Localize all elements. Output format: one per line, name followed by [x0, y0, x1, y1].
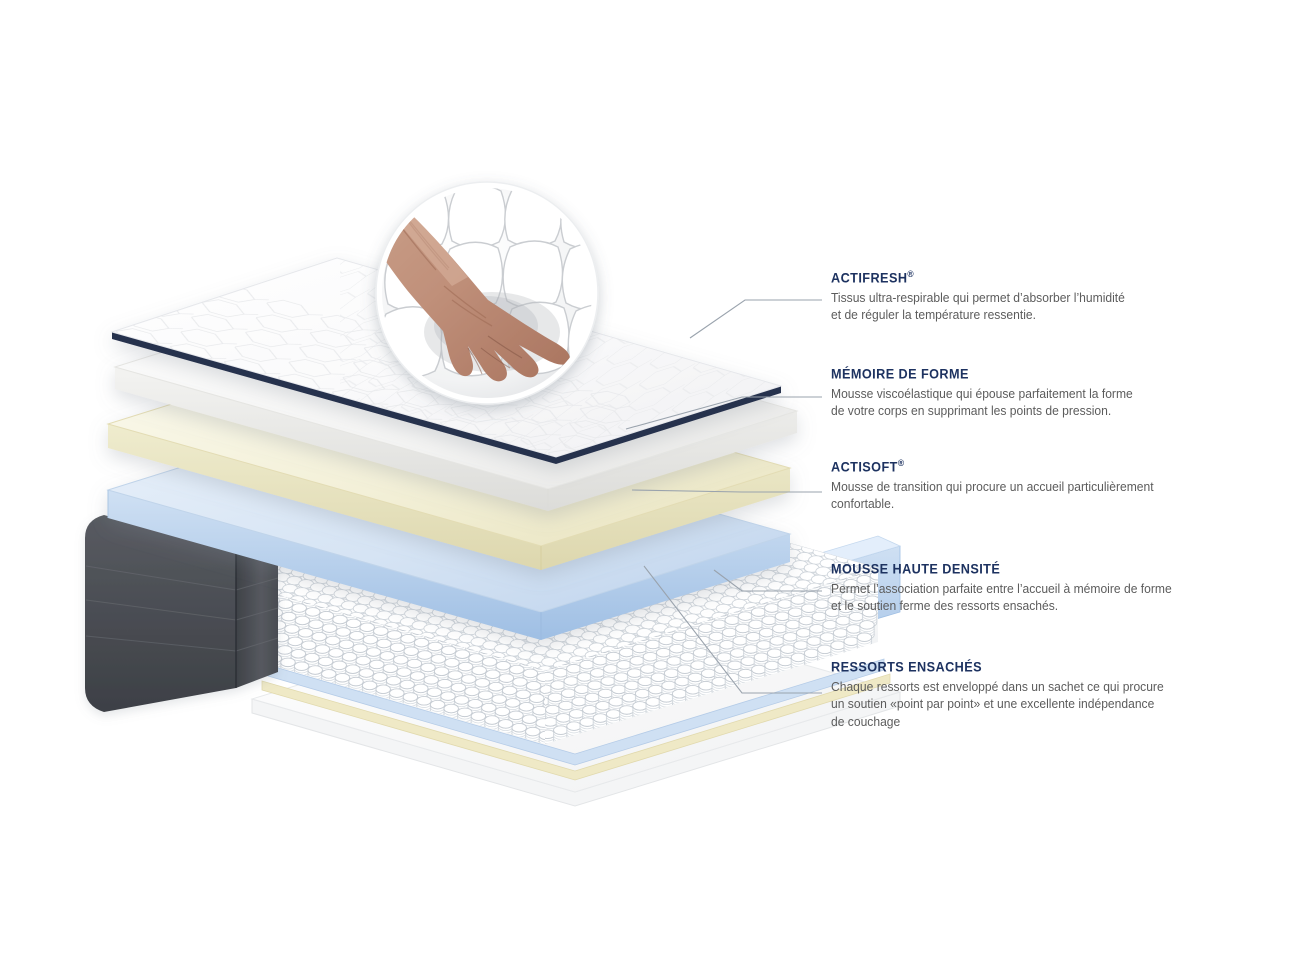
callout-title: ACTISOFT®	[831, 459, 1147, 475]
callout-title: MOUSSE HAUTE DENSITÉ	[831, 561, 1165, 577]
callout-memoire-de-forme: MÉMOIRE DE FORME Mousse viscoélastique q…	[831, 366, 1145, 421]
callout-title: MÉMOIRE DE FORME	[831, 366, 1126, 382]
registered-trademark-icon: ®	[898, 458, 904, 468]
callout-body: Mousse de transition qui procure un accu…	[831, 479, 1154, 513]
callout-actifresh: ACTIFRESH® Tissus ultra-respirable qui p…	[831, 270, 1137, 325]
registered-trademark-icon: ®	[907, 269, 913, 279]
callout-title: RESSORTS ENSACHÉS	[831, 659, 1157, 675]
diagram-canvas: ACTIFRESH® Tissus ultra-respirable qui p…	[0, 0, 1291, 968]
leader-line-actifresh	[690, 300, 822, 338]
callout-mousse-haute-densite: MOUSSE HAUTE DENSITÉ Permet l’associatio…	[831, 561, 1186, 616]
callout-body: Chaque ressorts est enveloppé dans un sa…	[831, 679, 1164, 730]
callout-actisoft: ACTISOFT® Mousse de transition qui procu…	[831, 459, 1167, 514]
callout-title: ACTIFRESH®	[831, 270, 1119, 286]
callout-body: Tissus ultra-respirable qui permet d’abs…	[831, 290, 1125, 324]
callout-body: Mousse viscoélastique qui épouse parfait…	[831, 386, 1133, 420]
callout-ressorts-ensaches: RESSORTS ENSACHÉS Chaque ressorts est en…	[831, 659, 1178, 731]
callout-body: Permet l’association parfaite entre l’ac…	[831, 581, 1172, 615]
